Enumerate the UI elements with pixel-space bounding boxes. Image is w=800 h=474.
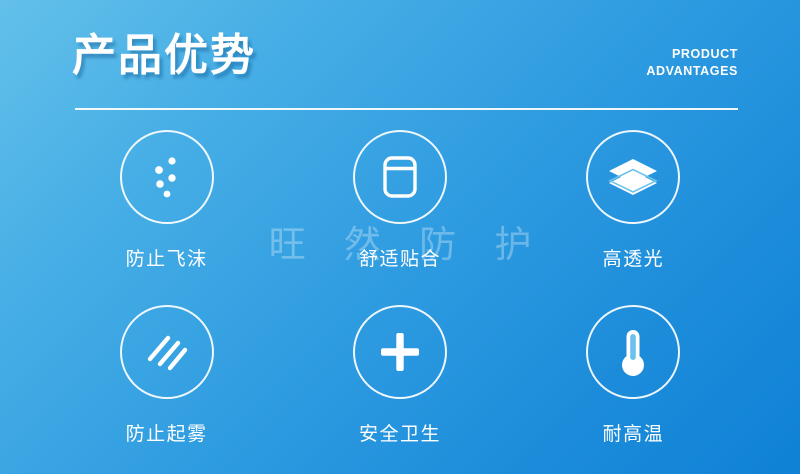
icon-circle xyxy=(353,305,447,399)
feature-grid: 防止飞沫 舒适贴合 xyxy=(50,130,750,470)
feature-item-anti-fog[interactable]: 防止起雾 xyxy=(50,305,283,470)
eyebrow-english-heading: PRODUCT ADVANTAGES xyxy=(646,46,738,80)
mask-cup-icon xyxy=(372,149,428,205)
feature-label: 舒适贴合 xyxy=(359,244,441,271)
header-divider xyxy=(75,108,738,110)
icon-circle xyxy=(120,130,214,224)
feature-label: 防止起雾 xyxy=(126,419,208,446)
feature-item-safe-hygienic[interactable]: 安全卫生 xyxy=(283,305,516,470)
icon-circle xyxy=(586,130,680,224)
icon-circle xyxy=(586,305,680,399)
product-advantages-banner: 产品优势 PRODUCT ADVANTAGES 旺 然 防 护 xyxy=(0,0,800,474)
anti-fog-lines-icon xyxy=(139,324,195,380)
page-title: 产品优势 xyxy=(72,32,256,80)
feature-item-high-transparency[interactable]: 高透光 xyxy=(517,130,750,295)
medical-cross-icon xyxy=(372,324,428,380)
thermometer-icon xyxy=(605,324,661,380)
droplets-icon xyxy=(139,149,195,205)
layers-sheets-icon xyxy=(603,149,663,205)
feature-label: 高透光 xyxy=(603,244,665,271)
feature-label: 安全卫生 xyxy=(359,419,441,446)
feature-item-comfort-fit[interactable]: 舒适贴合 xyxy=(283,130,516,295)
feature-item-droplets[interactable]: 防止飞沫 xyxy=(50,130,283,295)
icon-circle xyxy=(120,305,214,399)
feature-label: 耐高温 xyxy=(603,419,665,446)
eyebrow-line-2: ADVANTAGES xyxy=(646,63,738,80)
icon-circle xyxy=(353,130,447,224)
eyebrow-line-1: PRODUCT xyxy=(646,46,738,63)
feature-item-heat-resistant[interactable]: 耐高温 xyxy=(517,305,750,470)
banner-header: 产品优势 PRODUCT ADVANTAGES xyxy=(0,0,800,120)
feature-label: 防止飞沫 xyxy=(126,244,208,271)
